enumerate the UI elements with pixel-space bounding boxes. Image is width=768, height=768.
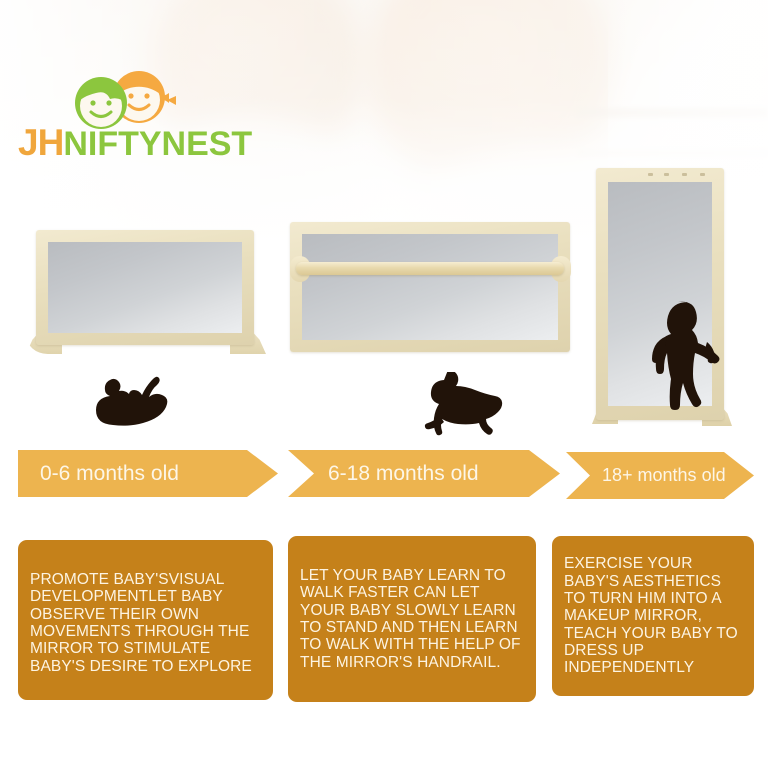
product-horizontal-table-mirror bbox=[18, 230, 273, 360]
brand-wordmark: JHNIFTYNEST bbox=[18, 124, 252, 161]
infographic-canvas: JHNIFTYNEST bbox=[0, 0, 768, 768]
description-card-row: PROMOTE BABY'SVISUAL DEVELOPMENTLET BABY… bbox=[0, 534, 768, 709]
age-banner-row: 0-6 months old 6-18 months old 18+ month… bbox=[0, 446, 768, 504]
mirror-glass bbox=[48, 242, 242, 333]
age-banner-label: 18+ months old bbox=[602, 465, 726, 486]
description-card-stage-1: PROMOTE BABY'SVISUAL DEVELOPMENTLET BABY… bbox=[18, 540, 273, 700]
description-card-stage-3: EXERCISE YOUR BABY'S AESTHETICS TO TURN … bbox=[552, 536, 754, 696]
description-card-stage-2: LET YOUR BABY LEARN TO WALK FASTER CAN L… bbox=[288, 536, 536, 702]
product-mirror-with-handrail bbox=[290, 222, 575, 362]
age-banner-label: 6-18 months old bbox=[328, 462, 479, 486]
mirror-glass bbox=[302, 234, 558, 340]
baby-crawling-icon bbox=[416, 372, 520, 443]
description-card-text: EXERCISE YOUR BABY'S AESTHETICS TO TURN … bbox=[552, 555, 754, 677]
toddler-standing-icon bbox=[645, 300, 731, 435]
handrail-bar bbox=[296, 262, 564, 275]
mirror-screw-row bbox=[648, 172, 710, 178]
brand-logo: JHNIFTYNEST bbox=[12, 68, 212, 168]
age-banner-6-18-months[interactable]: 6-18 months old bbox=[288, 450, 560, 497]
brand-logo-secondary: NIFTYNEST bbox=[63, 125, 252, 163]
age-banner-0-6-months[interactable]: 0-6 months old bbox=[18, 450, 278, 497]
description-card-text: PROMOTE BABY'SVISUAL DEVELOPMENTLET BABY… bbox=[18, 565, 273, 675]
brand-logo-primary: JH bbox=[18, 122, 63, 163]
baby-lying-icon bbox=[88, 368, 188, 435]
age-banner-label: 0-6 months old bbox=[40, 462, 179, 486]
age-banner-18-plus-months[interactable]: 18+ months old bbox=[566, 452, 754, 499]
product-row bbox=[0, 160, 768, 445]
description-card-text: LET YOUR BABY LEARN TO WALK FASTER CAN L… bbox=[288, 567, 536, 671]
